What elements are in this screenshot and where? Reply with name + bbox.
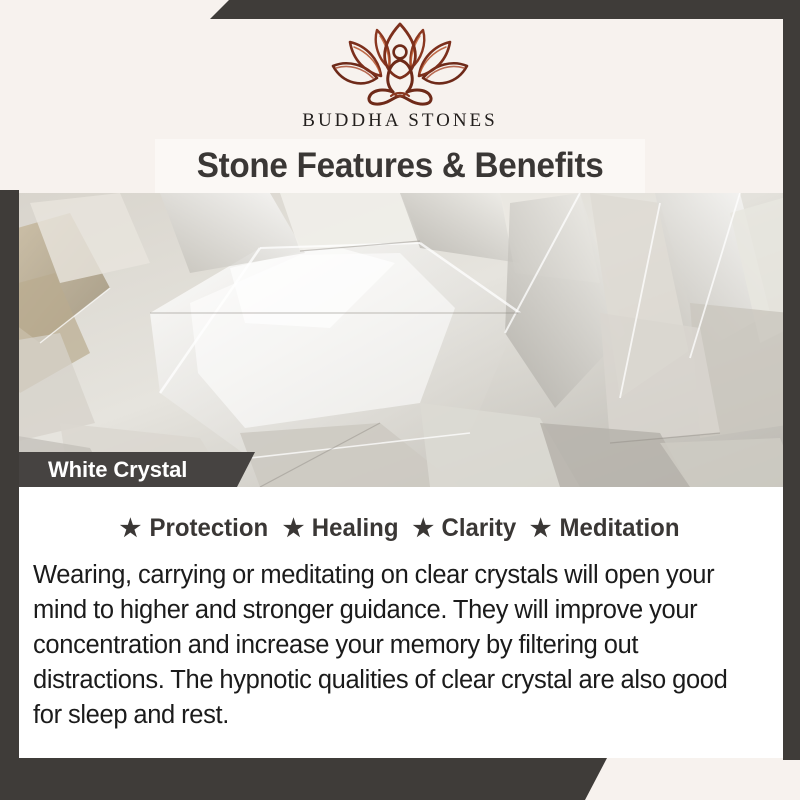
benefits-row: ★ Protection ★ Healing ★ Clarity ★ Medit…: [19, 514, 783, 543]
star-icon: ★: [283, 517, 305, 541]
section-title-band: Stone Features & Benefits: [155, 139, 645, 193]
frame-bottom-bar: [0, 758, 607, 800]
benefit-label: Meditation: [560, 514, 680, 543]
benefit-item: ★ Protection: [120, 514, 271, 543]
stone-name: White Crystal: [19, 457, 187, 483]
benefit-label: Healing: [312, 514, 399, 543]
page-title: Stone Features & Benefits: [197, 146, 604, 186]
benefit-item: ★ Meditation: [530, 514, 683, 543]
benefit-item: ★ Clarity: [413, 514, 518, 543]
star-icon: ★: [413, 517, 435, 541]
frame-right-bar: [783, 0, 800, 760]
frame-left-bar: [0, 190, 19, 760]
crystal-photo-art: [0, 193, 800, 487]
lotus-meditation-icon: [325, 22, 475, 106]
star-icon: ★: [530, 517, 552, 541]
frame-top-bar: [210, 0, 800, 19]
brand-logo: BUDDHA STONES: [0, 22, 800, 132]
benefit-item: ★ Healing: [283, 514, 401, 543]
white-crystal-photo: [0, 193, 800, 487]
benefit-label: Clarity: [442, 514, 517, 543]
stone-info-card: BUDDHA STONES Stone Features & Benefits …: [0, 0, 800, 800]
brand-name: BUDDHA STONES: [302, 110, 497, 132]
stone-description: Wearing, carrying or meditating on clear…: [33, 558, 753, 733]
star-icon: ★: [120, 517, 142, 541]
benefit-label: Protection: [150, 514, 269, 543]
stone-name-ribbon: White Crystal: [19, 452, 255, 487]
